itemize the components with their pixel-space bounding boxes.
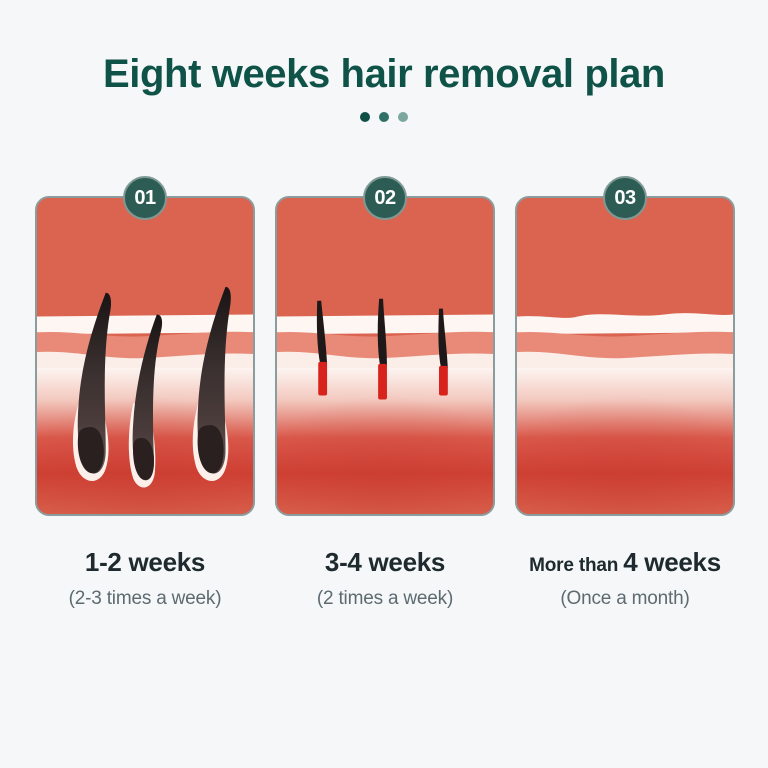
- step-card-01: 01: [35, 196, 255, 516]
- caption-main-03: 4 weeks: [623, 547, 721, 577]
- caption-main-02: 3-4 weeks: [325, 547, 445, 577]
- caption-01: 1-2 weeks (2-3 times a week): [35, 548, 255, 611]
- step-badge-03: 03: [603, 176, 647, 220]
- caption-03: More than 4 weeks (Once a month): [515, 548, 735, 611]
- caption-subtitle-03: (Once a month): [515, 588, 735, 611]
- skin-illustration-02: [277, 198, 493, 514]
- caption-subtitle-02: (2 times a week): [275, 588, 495, 611]
- caption-title-02: 3-4 weeks: [275, 548, 495, 578]
- caption-subtitle-01: (2-3 times a week): [35, 588, 255, 611]
- step-card-row: 01: [35, 196, 735, 518]
- step-card-02: 02: [275, 196, 495, 516]
- indicator-dot-2: [379, 112, 389, 122]
- skin-illustration-01: [37, 198, 253, 514]
- dot-indicator-group: [0, 112, 768, 122]
- page-title: Eight weeks hair removal plan: [0, 52, 768, 96]
- step-card-03: 03: [515, 196, 735, 516]
- skin-cross-section-svg-3: [517, 198, 733, 514]
- header: Eight weeks hair removal plan: [0, 52, 768, 122]
- caption-title-03: More than 4 weeks: [515, 548, 735, 578]
- skin-cross-section-svg-1: [37, 198, 253, 514]
- skin-cross-section-svg-2: [277, 198, 493, 514]
- skin-illustration-03: [517, 198, 733, 514]
- indicator-dot-3: [398, 112, 408, 122]
- caption-prefix-03: More than: [529, 555, 623, 576]
- step-badge-01: 01: [123, 176, 167, 220]
- indicator-dot-1: [360, 112, 370, 122]
- caption-title-01: 1-2 weeks: [35, 548, 255, 578]
- caption-main-01: 1-2 weeks: [85, 547, 205, 577]
- caption-row: 1-2 weeks (2-3 times a week) 3-4 weeks (…: [35, 548, 735, 611]
- step-badge-02: 02: [363, 176, 407, 220]
- caption-02: 3-4 weeks (2 times a week): [275, 548, 495, 611]
